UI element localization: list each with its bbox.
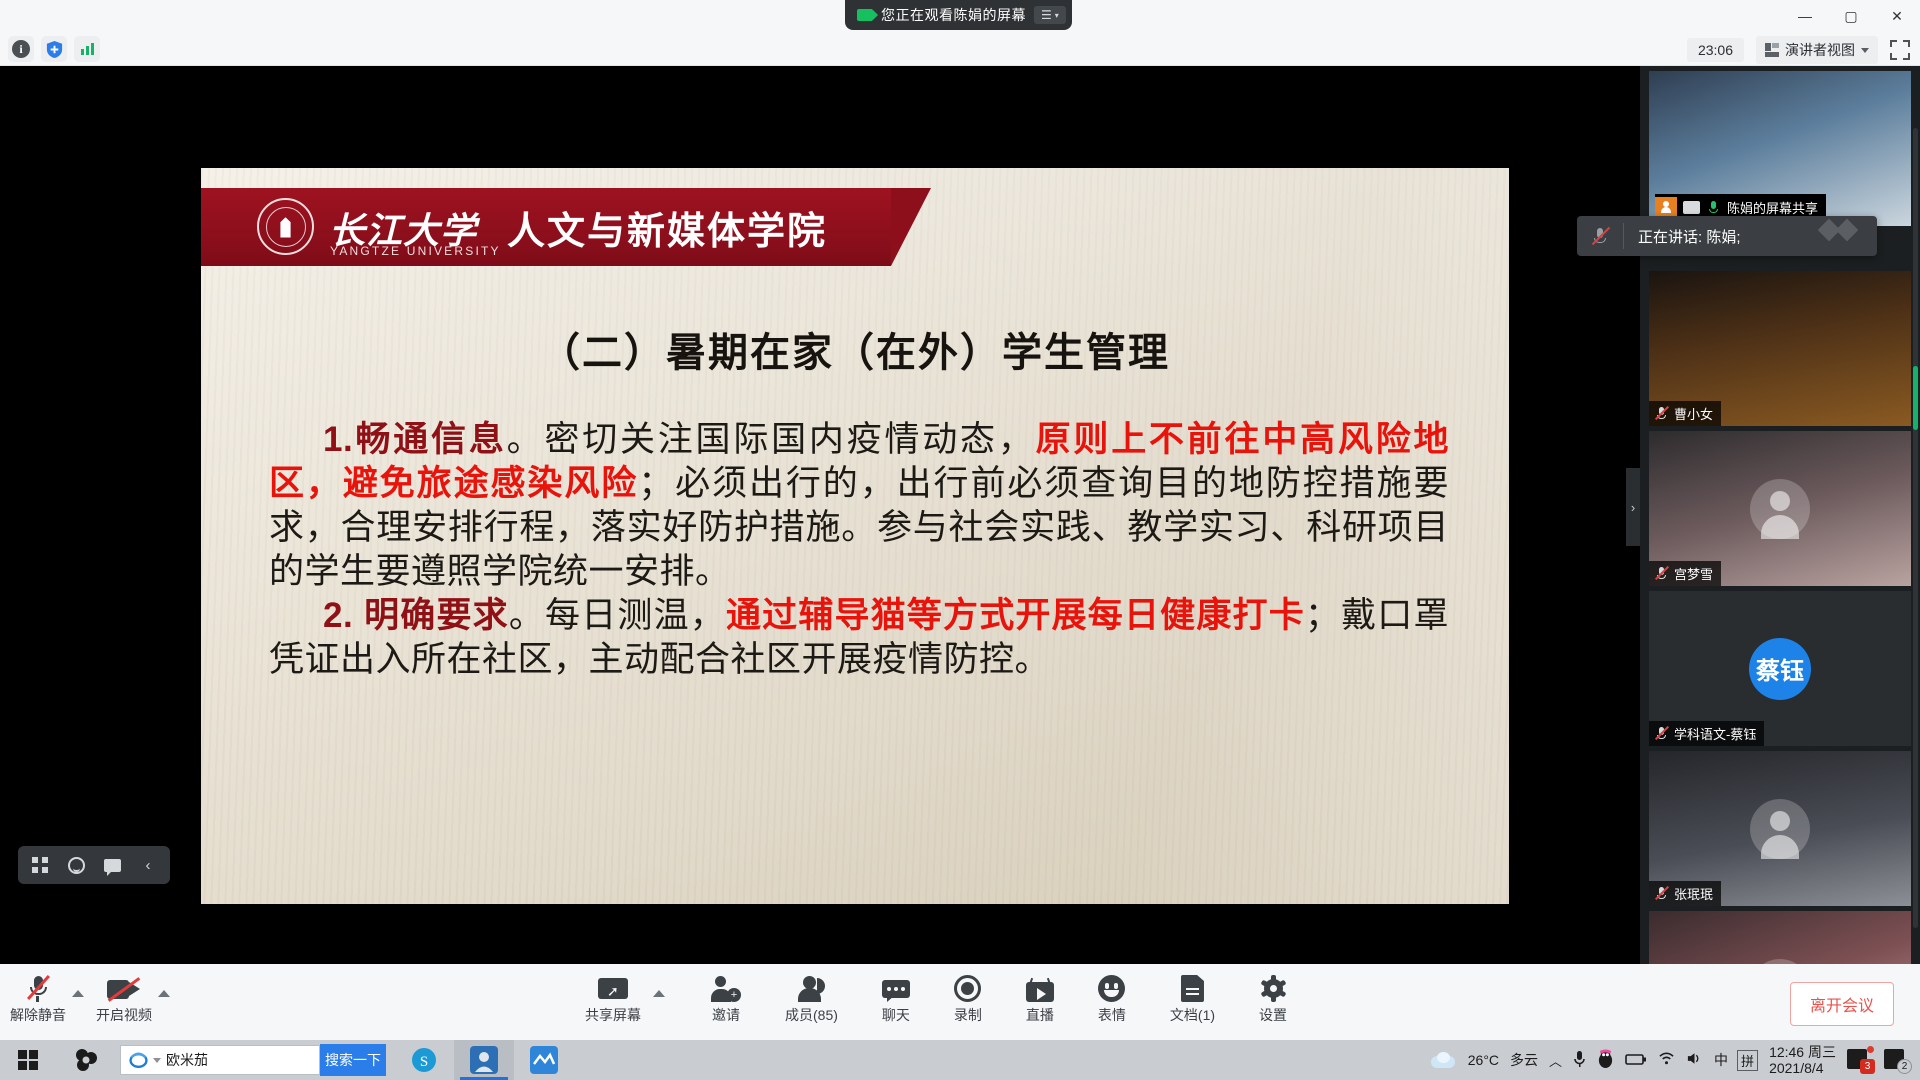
para2-lead: 2. 明确要求 <box>323 596 509 635</box>
chevron-up-icon[interactable]: ︿ <box>1549 1051 1562 1070</box>
participant-name: 张珉珉 <box>1674 884 1713 903</box>
wave-icon[interactable] <box>514 1040 574 1080</box>
panel-expand-arrow[interactable]: › <box>1626 468 1640 546</box>
speaking-text: 正在讲话: 陈娟; <box>1624 226 1741 247</box>
document-icon <box>1181 972 1204 1002</box>
mic-on-icon <box>1706 200 1721 215</box>
meeting-toolbar-row <box>0 32 1920 66</box>
participant-panel: 陈娟的屏幕共享 曹小女 宫梦雪 蔡钰 学科语文-蔡钰 张珉珉 <box>1640 66 1920 964</box>
record-circle-icon <box>954 972 981 1002</box>
share-screen-button[interactable]: ➚ 共享屏幕 <box>585 972 641 1025</box>
ime-indicator[interactable]: 中 拼 <box>1714 1050 1758 1071</box>
avatar: 蔡钰 <box>1749 638 1811 700</box>
toolbar-left-icons: i <box>8 36 100 62</box>
settings-label: 设置 <box>1259 1005 1287 1025</box>
taskbar-apps: 欧米茄 搜索一下 S <box>56 1040 574 1080</box>
chat-label: 聊天 <box>882 1005 910 1025</box>
battery-icon[interactable] <box>1625 1052 1647 1069</box>
audio-options-caret[interactable] <box>72 990 84 997</box>
taskbar-clock[interactable]: 12:46 周三 2021/8/4 <box>1769 1044 1836 1076</box>
participant-tile-2[interactable]: 宫梦雪 <box>1649 431 1911 586</box>
slide-title: （二）暑期在家（在外）学生管理 <box>201 320 1509 378</box>
volume-icon[interactable] <box>1686 1051 1703 1069</box>
participant-name-bar: 曹小女 <box>1649 401 1721 426</box>
participant-name: 宫梦雪 <box>1674 564 1713 583</box>
participant-tile-3[interactable]: 蔡钰 学科语文-蔡钰 <box>1649 591 1911 746</box>
window-controls[interactable]: — ▢ ✕ <box>1782 0 1920 32</box>
badge-count: 3 <box>1860 1059 1875 1074</box>
documents-label: 文档(1) <box>1170 1005 1215 1025</box>
invite-person-icon: + <box>711 972 741 1002</box>
live-button[interactable]: 直播 <box>1026 972 1054 1025</box>
annotate-icon[interactable] <box>30 855 50 875</box>
search-button[interactable]: 搜索一下 <box>320 1044 386 1076</box>
security-shield-icon[interactable] <box>41 36 67 62</box>
live-label: 直播 <box>1026 1005 1054 1025</box>
chat-bubble-icon <box>882 972 910 1002</box>
panel-scrollbar-thumb[interactable] <box>1913 366 1918 430</box>
screen-share-icon <box>1683 201 1700 214</box>
ime-lang[interactable]: 中 <box>1714 1050 1728 1070</box>
para1-lead: 1.畅通信息 <box>323 420 507 459</box>
mic-muted-icon <box>1654 726 1669 741</box>
windows-logo-icon[interactable] <box>0 1040 56 1080</box>
search-input[interactable]: 欧米茄 <box>166 1050 208 1070</box>
close-button[interactable]: ✕ <box>1874 0 1920 32</box>
chevron-down-icon <box>1861 48 1869 53</box>
chevron-down-icon[interactable] <box>153 1058 161 1063</box>
presentation-slide: 长江大学 YANGTZE UNIVERSITY 人文与新媒体学院 （二）暑期在家… <box>201 168 1509 904</box>
red-dot-icon <box>1867 1046 1874 1053</box>
para2-red1: 通过辅导猫等方式开展每日健康打卡 <box>726 596 1305 635</box>
fullscreen-icon[interactable] <box>1890 40 1910 60</box>
wifi-icon[interactable] <box>1658 1051 1675 1069</box>
mic-muted-icon <box>1577 226 1623 246</box>
mic-muted-icon <box>25 972 51 1002</box>
meeting-info-icon[interactable]: i <box>8 36 34 62</box>
weather-desc: 多云 <box>1510 1050 1538 1070</box>
collapse-icon[interactable]: ‹ <box>138 855 158 875</box>
minimize-button[interactable]: — <box>1782 0 1828 32</box>
weather-cloud-icon[interactable] <box>1431 1050 1457 1070</box>
emoji-button[interactable]: 表情 <box>1098 972 1126 1025</box>
ime-mode[interactable]: 拼 <box>1737 1050 1758 1071</box>
documents-button[interactable]: 文档(1) <box>1170 972 1215 1025</box>
slide-paragraph-2: 2. 明确要求。每日测温，通过辅导猫等方式开展每日健康打卡；戴口罩凭证出入所在社… <box>269 594 1449 682</box>
para1-black1: 。密切关注国际国内疫情动态， <box>507 420 1036 459</box>
person-icon <box>1655 197 1677 217</box>
svg-text:S: S <box>420 1054 428 1070</box>
camera-off-icon <box>107 972 141 1002</box>
para2-black1: 。每日测温， <box>509 596 726 635</box>
video-options-caret[interactable] <box>158 990 170 997</box>
mic-muted-icon <box>1654 566 1669 581</box>
notification-badge-2[interactable]: 2 <box>1884 1049 1910 1071</box>
layout-icon <box>1765 43 1779 57</box>
chat-bubble-icon[interactable] <box>102 855 122 875</box>
tencent-meeting-icon[interactable] <box>454 1040 514 1080</box>
live-tv-icon <box>1026 972 1054 1002</box>
speaking-indicator-tooltip: 正在讲话: 陈娟; <box>1577 216 1877 256</box>
gear-icon <box>1260 972 1287 1002</box>
participant-name-bar: 张珉珉 <box>1649 881 1721 906</box>
windows-taskbar: 欧米茄 搜索一下 S 26°C 多云 ︿ <box>0 1040 1920 1080</box>
slide-header-ribbon: 长江大学 YANGTZE UNIVERSITY 人文与新媒体学院 <box>201 188 891 266</box>
slide-paragraph-1: 1.畅通信息。密切关注国际国内疫情动态，原则上不前往中高风险地区，避免旅途感染风… <box>269 418 1449 594</box>
start-video-button[interactable]: 开启视频 <box>96 972 152 1025</box>
people-icon <box>797 972 825 1002</box>
participant-name: 曹小女 <box>1674 404 1713 423</box>
meeting-actions: ➚ 共享屏幕 + 邀请 成员(85) 聊天 <box>585 972 1287 1025</box>
mic-muted-icon <box>1654 406 1669 421</box>
meeting-control-bar: 解除静音 开启视频 ➚ 共享屏幕 + 邀请 <box>0 964 1920 1040</box>
unmute-button[interactable]: 解除静音 <box>10 972 66 1025</box>
qq-penguin-icon[interactable] <box>1597 1049 1614 1071</box>
internet-explorer-icon <box>129 1051 148 1070</box>
participant-name: 陈娟的屏幕共享 <box>1727 198 1818 217</box>
emoji-label: 表情 <box>1098 1005 1126 1025</box>
slide-body: 1.畅通信息。密切关注国际国内疫情动态，原则上不前往中高风险地区，避免旅途感染风… <box>269 418 1449 683</box>
leave-meeting-container: 离开会议 <box>1790 982 1894 1026</box>
mic-muted-icon <box>1654 886 1669 901</box>
audio-video-controls: 解除静音 开启视频 <box>10 972 172 1025</box>
share-banner-text: 您正在观看陈娟的屏幕 <box>881 5 1026 25</box>
screen-share-icon: ➚ <box>598 972 628 1002</box>
participant-name-bar: 学科语文-蔡钰 <box>1649 721 1764 746</box>
clock-time: 12:46 周三 <box>1769 1044 1836 1060</box>
participant-name: 学科语文-蔡钰 <box>1674 724 1756 743</box>
university-logo-icon <box>257 198 314 255</box>
invite-label: 邀请 <box>712 1005 740 1025</box>
smiley-icon <box>1098 972 1125 1002</box>
hamburger-icon[interactable]: ☰▾ <box>1034 6 1066 24</box>
screen-share-banner[interactable]: 您正在观看陈娟的屏幕 ☰▾ <box>845 0 1072 30</box>
clock-date: 2021/8/4 <box>1769 1060 1836 1076</box>
panel-scrollbar-track[interactable] <box>1913 128 1918 928</box>
microphone-icon[interactable] <box>1573 1050 1586 1071</box>
view-mode-selector[interactable]: 演讲者视图 <box>1756 36 1878 64</box>
participant-name-bar: 宫梦雪 <box>1649 561 1721 586</box>
unmute-label: 解除静音 <box>10 1005 66 1025</box>
system-tray: 26°C 多云 ︿ 中 拼 12:46 周三 2021/8/4 3 <box>1431 1044 1920 1076</box>
university-name-en: YANGTZE UNIVERSITY <box>330 244 501 258</box>
record-button[interactable]: 录制 <box>954 972 982 1025</box>
sogou-icon[interactable] <box>56 1040 116 1080</box>
start-video-label: 开启视频 <box>96 1005 152 1025</box>
invite-button[interactable]: + 邀请 <box>711 972 741 1025</box>
participant-tile-4[interactable]: 张珉珉 <box>1649 751 1911 906</box>
decor-diamonds <box>1821 222 1855 238</box>
participant-tile-1[interactable]: 曹小女 <box>1649 271 1911 426</box>
chat-button[interactable]: 聊天 <box>882 972 910 1025</box>
participants-button[interactable]: 成员(85) <box>785 972 838 1025</box>
college-name: 人文与新媒体学院 <box>507 200 827 255</box>
notification-badge-1[interactable]: 3 <box>1847 1049 1873 1071</box>
skype-icon[interactable]: S <box>394 1040 454 1080</box>
record-label: 录制 <box>954 1005 982 1025</box>
screen-share-icon <box>857 9 873 21</box>
participants-label: 成员(85) <box>785 1005 838 1025</box>
share-screen-label: 共享屏幕 <box>585 1005 641 1025</box>
view-mode-label: 演讲者视图 <box>1785 40 1855 60</box>
settings-button[interactable]: 设置 <box>1259 972 1287 1025</box>
network-signal-icon[interactable] <box>74 36 100 62</box>
emoji-icon[interactable] <box>66 855 86 875</box>
shared-screen-stage: 长江大学 YANGTZE UNIVERSITY 人文与新媒体学院 （二）暑期在家… <box>0 66 1640 964</box>
share-options-caret[interactable] <box>653 990 665 997</box>
badge-count: 2 <box>1897 1059 1912 1074</box>
ie-search-box[interactable]: 欧米茄 <box>120 1045 320 1075</box>
toolbar-right-controls: 23:06 演讲者视图 <box>1687 36 1910 64</box>
meeting-timer: 23:06 <box>1687 38 1744 62</box>
leave-meeting-button[interactable]: 离开会议 <box>1790 982 1894 1026</box>
weather-temp: 26°C <box>1468 1052 1499 1068</box>
maximize-button[interactable]: ▢ <box>1828 0 1874 32</box>
floating-annotation-toolbar[interactable]: ‹ <box>18 846 170 884</box>
participant-tile-sharing[interactable]: 陈娟的屏幕共享 <box>1649 71 1911 226</box>
